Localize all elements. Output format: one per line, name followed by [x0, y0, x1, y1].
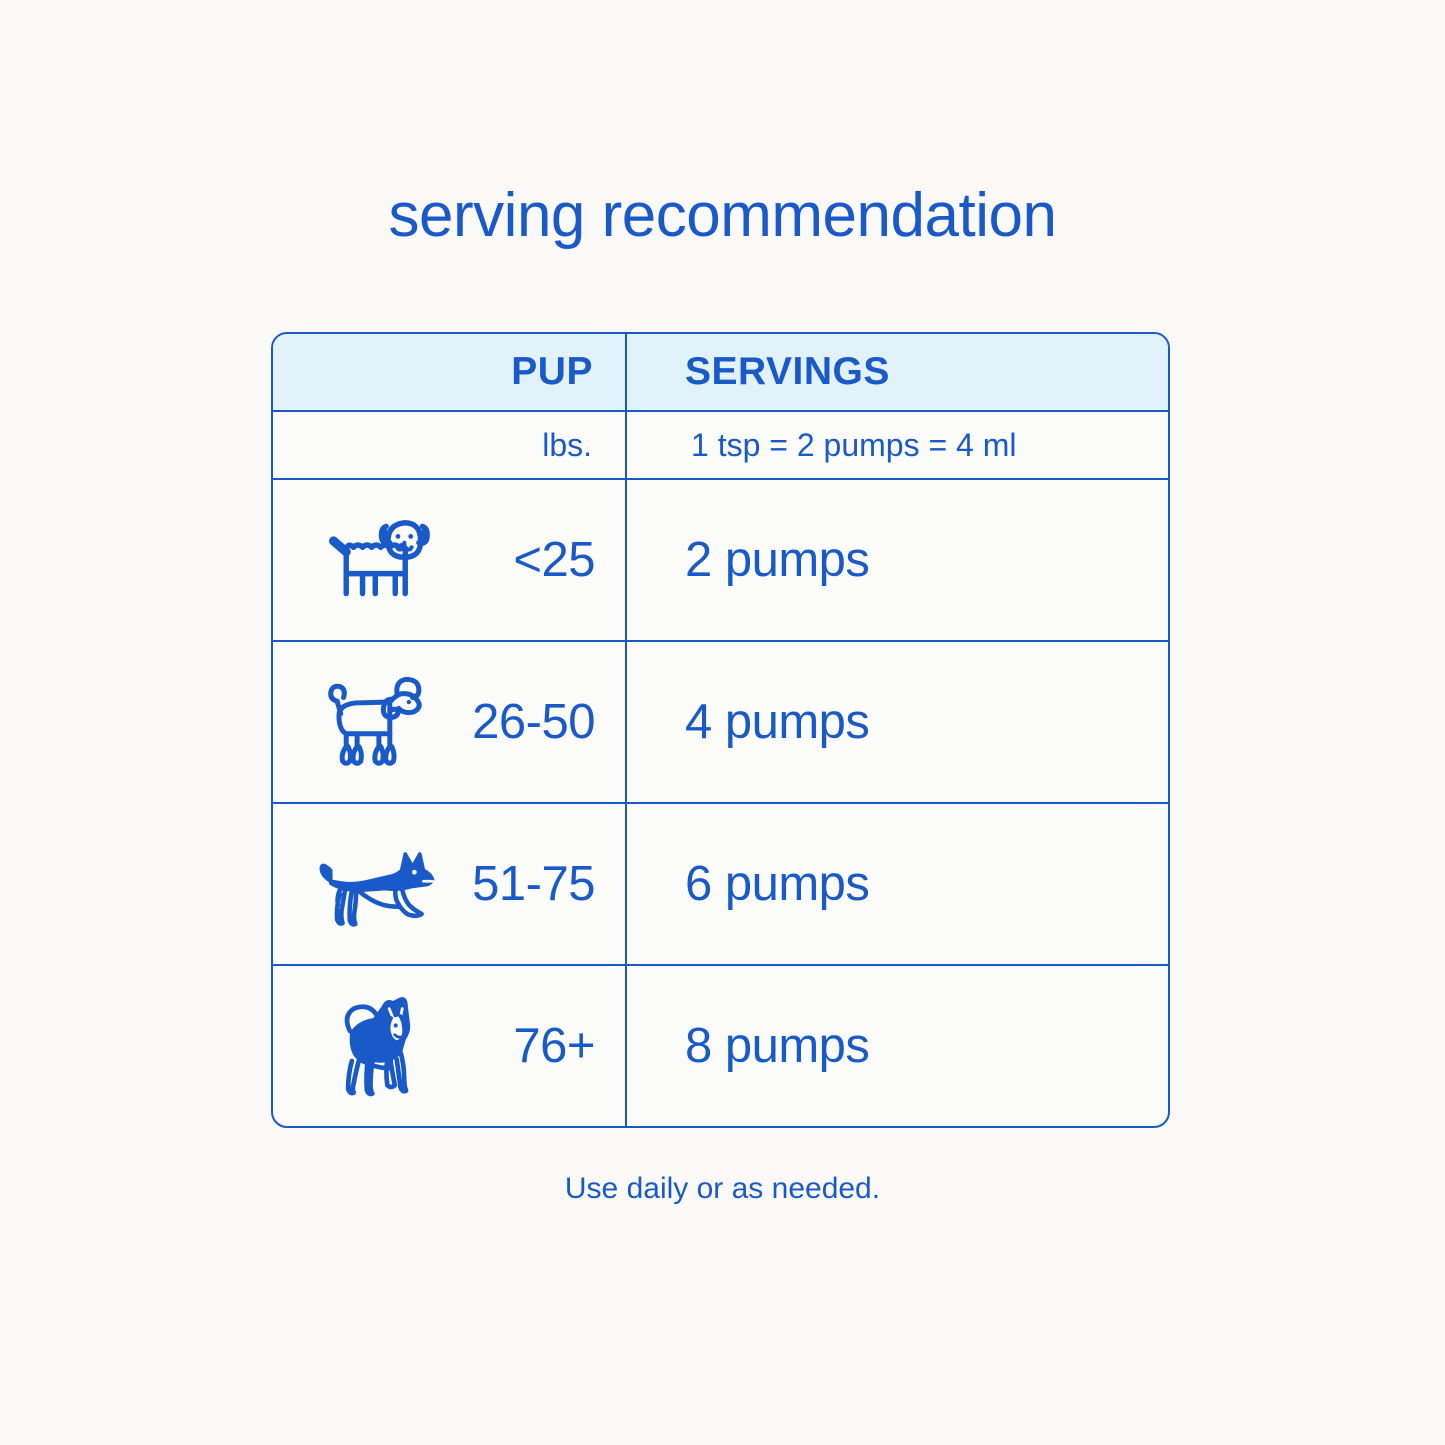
row-servings: 2 pumps — [685, 532, 869, 588]
husky-dog-icon — [308, 986, 448, 1106]
row-servings: 8 pumps — [685, 1018, 869, 1074]
row-cell-pup: 51-75 — [273, 804, 627, 964]
header-cell-pup: PUP — [273, 334, 627, 410]
table-header-row: PUP SERVINGS — [273, 334, 1168, 410]
page-title: serving recommendation — [0, 182, 1445, 250]
header-cell-servings: SERVINGS — [627, 334, 1168, 410]
row-cell-servings: 2 pumps — [627, 480, 1168, 640]
units-label-lbs: lbs. — [542, 427, 592, 464]
row-cell-pup: 76+ — [273, 966, 627, 1126]
table-row: <25 2 pumps — [273, 478, 1168, 640]
units-cell-pup: lbs. — [273, 412, 627, 478]
shepherd-dog-icon — [308, 824, 448, 944]
row-weight: 51-75 — [448, 856, 625, 912]
footer-note: Use daily or as needed. — [0, 1172, 1445, 1206]
row-weight: 26-50 — [448, 694, 625, 750]
row-cell-servings: 6 pumps — [627, 804, 1168, 964]
row-weight: <25 — [448, 532, 625, 588]
table-units-row: lbs. 1 tsp = 2 pumps = 4 ml — [273, 410, 1168, 478]
column-header-pup: PUP — [511, 350, 593, 394]
row-cell-pup: <25 — [273, 480, 627, 640]
row-cell-servings: 8 pumps — [627, 966, 1168, 1126]
column-header-servings: SERVINGS — [685, 350, 890, 394]
table-row: 26-50 4 pumps — [273, 640, 1168, 802]
units-cell-servings: 1 tsp = 2 pumps = 4 ml — [627, 412, 1168, 478]
row-cell-pup: 26-50 — [273, 642, 627, 802]
table-row: 51-75 6 pumps — [273, 802, 1168, 964]
row-cell-servings: 4 pumps — [627, 642, 1168, 802]
row-servings: 6 pumps — [685, 856, 869, 912]
small-dog-icon — [308, 500, 448, 620]
poodle-dog-icon — [308, 662, 448, 782]
row-servings: 4 pumps — [685, 694, 869, 750]
row-weight: 76+ — [448, 1018, 625, 1074]
serving-table: PUP SERVINGS lbs. 1 tsp = 2 pumps = 4 ml — [271, 332, 1170, 1128]
table-row: 76+ 8 pumps — [273, 964, 1168, 1126]
serving-recommendation-card: serving recommendation PUP SERVINGS lbs.… — [0, 0, 1445, 1445]
units-label-conversion: 1 tsp = 2 pumps = 4 ml — [691, 427, 1017, 464]
